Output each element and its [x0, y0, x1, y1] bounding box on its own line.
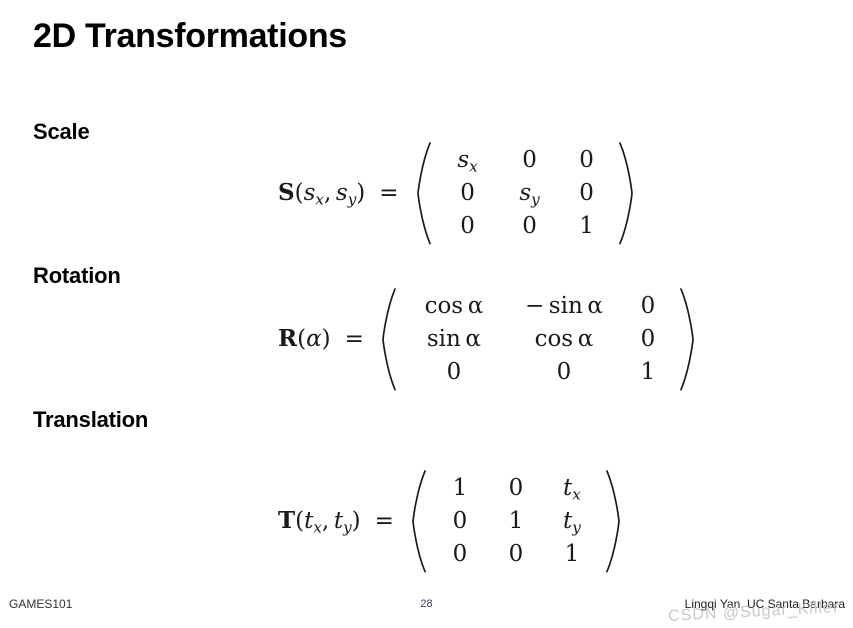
- matrix-paren-right-icon: [679, 288, 696, 391]
- matrix-cell-r2c1: sin α: [402, 323, 506, 356]
- matrix-cell-r3c2: 0: [488, 538, 544, 571]
- equals-sign: =: [379, 180, 398, 206]
- matrix-symbol-s: S: [278, 179, 295, 206]
- matrix-scale-body: sx000sy0001: [432, 142, 618, 245]
- matrix-cell-r3c2: 0: [499, 210, 561, 243]
- matrix-cell-r1c1: cos α: [402, 290, 506, 323]
- matrix-cell-r2c1: 0: [432, 505, 488, 538]
- arg-comma: ,: [324, 180, 331, 206]
- equation-translation-lhs: T(tx, ty): [278, 509, 361, 533]
- matrix-cell-r3c3: 1: [544, 538, 600, 571]
- arg-tx-sub: x: [313, 519, 322, 537]
- matrix-cell-r1c2: − sin α: [506, 290, 622, 323]
- matrix-cell-subscript: y: [531, 190, 540, 208]
- matrix-translation: 10tx01ty001: [410, 470, 622, 573]
- matrix-symbol-t: T: [278, 507, 295, 534]
- equals-sign: =: [375, 508, 394, 534]
- section-heading-translation: Translation: [33, 407, 148, 433]
- matrix-rotation: cos α− sin α0sin αcos α0001: [380, 288, 696, 391]
- section-heading-rotation: Rotation: [33, 263, 121, 289]
- equation-scale-lhs: S(sx, sy): [278, 181, 365, 205]
- matrix-cell-r2c2: cos α: [506, 323, 622, 356]
- slide-canvas: 2D Transformations Scale S(sx, sy) = sx0…: [0, 0, 853, 628]
- equation-rotation-lhs: R(α): [278, 327, 331, 351]
- matrix-translation-body: 10tx01ty001: [427, 470, 605, 573]
- matrix-cell-r1c1: 1: [432, 472, 488, 505]
- matrix-cell-r2c3: 0: [561, 177, 613, 210]
- arg-tx-base: t: [304, 508, 313, 534]
- equation-rotation: R(α) = cos α− sin α0sin αcos α0001: [278, 288, 696, 391]
- matrix-cell-r1c3: tx: [544, 472, 600, 505]
- matrix-rotation-body: cos α− sin α0sin αcos α0001: [397, 288, 679, 391]
- matrix-cell-r3c1: 0: [437, 210, 499, 243]
- matrix-cell-r2c3: 0: [622, 323, 674, 356]
- matrix-paren-left-icon: [410, 470, 427, 573]
- matrix-cell-r1c1: sx: [437, 144, 499, 177]
- arg-sx-sub: x: [315, 191, 324, 209]
- matrix-symbol-r: R: [278, 325, 297, 352]
- arg-sx-base: s: [304, 180, 316, 206]
- matrix-cell-subscript: y: [572, 518, 581, 536]
- matrix-scale: sx000sy0001: [415, 142, 635, 245]
- matrix-cell-r1c2: 0: [499, 144, 561, 177]
- paren-open: (: [295, 180, 304, 206]
- arg-sy-sub: y: [348, 191, 357, 209]
- section-heading-scale: Scale: [33, 119, 90, 145]
- matrix-cell-r1c3: 0: [561, 144, 613, 177]
- matrix-cell-r2c1: 0: [437, 177, 499, 210]
- matrix-cell-r3c1: 0: [432, 538, 488, 571]
- matrix-cell-r2c2: 1: [488, 505, 544, 538]
- matrix-paren-right-icon: [618, 142, 635, 245]
- arg-ty-sub: y: [343, 519, 352, 537]
- equation-scale: S(sx, sy) = sx000sy0001: [278, 142, 635, 245]
- matrix-cell-r3c1: 0: [402, 356, 506, 389]
- paren-open: (: [297, 326, 306, 352]
- matrix-paren-right-icon: [605, 470, 622, 573]
- equals-sign: =: [345, 326, 364, 352]
- paren-close: ): [356, 180, 365, 206]
- page-title: 2D Transformations: [33, 17, 347, 56]
- arg-alpha: α: [306, 326, 322, 352]
- csdn-watermark: CSDN @Sugar_Killer: [668, 599, 840, 626]
- arg-sy-base: s: [336, 180, 348, 206]
- arg-ty-base: t: [334, 508, 343, 534]
- arg-comma: ,: [322, 508, 329, 534]
- matrix-cell-r3c2: 0: [506, 356, 622, 389]
- paren-close: ): [322, 326, 331, 352]
- matrix-cell-r2c3: ty: [544, 505, 600, 538]
- matrix-cell-r3c3: 1: [561, 210, 613, 243]
- matrix-cell-r3c3: 1: [622, 356, 674, 389]
- matrix-cell-subscript: x: [469, 158, 478, 176]
- matrix-cell-r1c3: 0: [622, 290, 674, 323]
- matrix-paren-left-icon: [380, 288, 397, 391]
- paren-close: ): [352, 508, 361, 534]
- footer-author-label: Lingqi Yan, UC Santa BarbaraCSDN @Sugar_…: [685, 597, 845, 611]
- matrix-cell-r2c2: sy: [499, 177, 561, 210]
- matrix-paren-left-icon: [415, 142, 432, 245]
- matrix-cell-r1c2: 0: [488, 472, 544, 505]
- equation-translation: T(tx, ty) = 10tx01ty001: [278, 470, 622, 573]
- matrix-cell-subscript: x: [572, 486, 581, 504]
- paren-open: (: [295, 508, 304, 534]
- slide-footer: GAMES101 28 Lingqi Yan, UC Santa Barbara…: [0, 588, 853, 628]
